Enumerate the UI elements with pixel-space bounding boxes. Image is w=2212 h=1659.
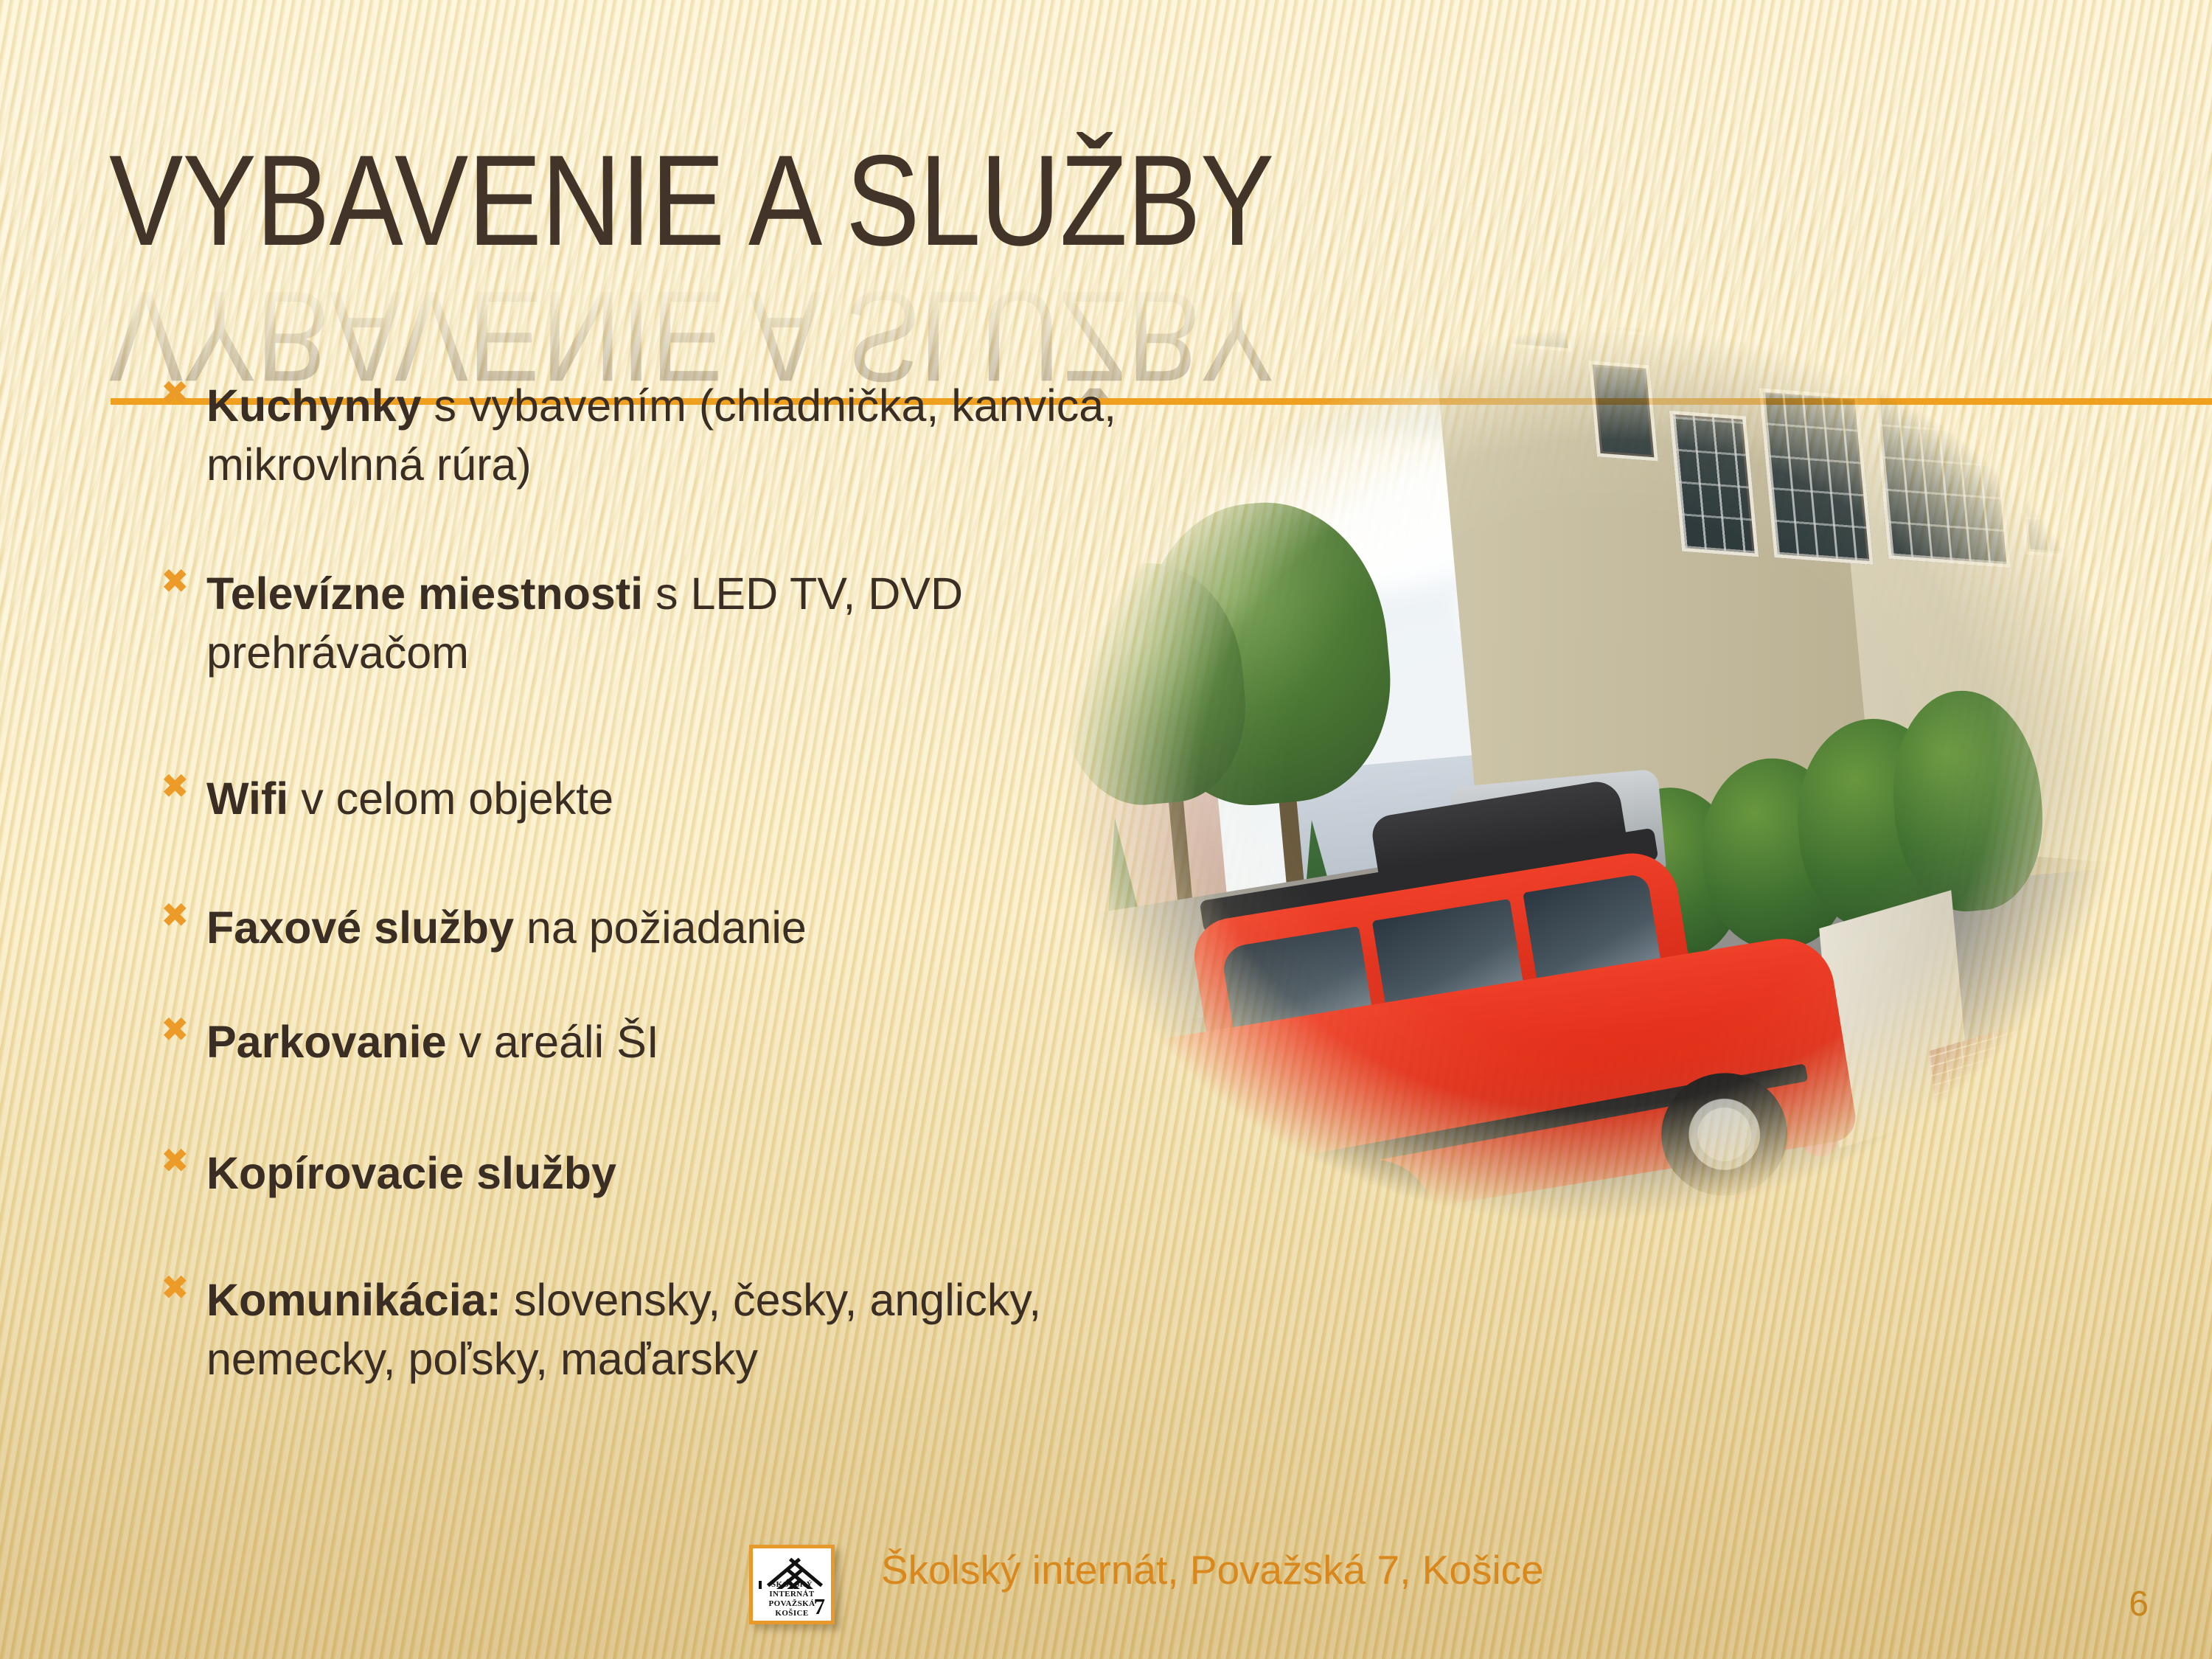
list-item-bold: Komunikácia: [206, 1275, 501, 1325]
taillight [1164, 1117, 1230, 1190]
list-item-bold: Faxové služby [206, 902, 514, 953]
list-item: ✖ Wifi v celom objekte [0, 769, 613, 828]
bullet-x-icon: ✖ [161, 898, 206, 932]
window [1669, 410, 1759, 556]
list-item: ✖ Komunikácia: slovensky, česky, anglick… [0, 1270, 1180, 1388]
list-item-bold: Parkovanie [206, 1017, 447, 1067]
list-item-text: Kopírovacie služby [206, 1144, 616, 1203]
list-item-bold: Wifi [206, 773, 288, 824]
window [1588, 361, 1658, 461]
logo-number: 7 [814, 1595, 826, 1618]
list-item-text: Faxové služby na požiadanie [206, 898, 807, 957]
list-item-text: Wifi v celom objekte [206, 769, 613, 828]
window [1759, 388, 1874, 566]
list-item-text: Komunikácia: slovensky, česky, anglicky,… [206, 1270, 1180, 1388]
window [1870, 352, 2011, 568]
list-item-text: Kuchynky s vybavením (chladnička, kanvic… [206, 376, 1180, 494]
school-logo: ŠKOLSKÝ INTERNÁT POVAŽSKÁ KOŠICE 7 [749, 1545, 835, 1624]
list-item-rest: na požiadanie [514, 902, 807, 953]
list-item-rest: v celom objekte [288, 773, 613, 824]
list-item-text: Televízne miestnosti s LED TV, DVD prehr… [206, 564, 1180, 682]
list-item: ✖ Parkovanie v areáli ŠI [0, 1012, 659, 1071]
bullet-x-icon: ✖ [161, 1270, 206, 1304]
list-item-bold: Kuchynky [206, 380, 422, 431]
list-item: ✖ Faxové služby na požiadanie [0, 898, 807, 957]
bullet-x-icon: ✖ [161, 564, 206, 598]
list-item: ✖ Televízne miestnosti s LED TV, DVD pre… [0, 564, 1180, 682]
page-number: 6 [2129, 1585, 2149, 1624]
list-item-bold: Kopírovacie služby [206, 1148, 616, 1198]
list-item-text: Parkovanie v areáli ŠI [206, 1012, 659, 1071]
page-title: VYBAVENIE A SLUŽBY [109, 139, 1273, 264]
list-item-rest: v areáli ŠI [447, 1017, 659, 1067]
list-item: ✖ Kopírovacie služby [0, 1144, 616, 1203]
presentation-slide: VYBAVENIE A SLUŽBY VYBAVENIE A SLUŽBY [0, 0, 2212, 1659]
bullet-x-icon: ✖ [161, 1012, 206, 1046]
bullet-x-icon: ✖ [161, 376, 206, 410]
window [2002, 296, 2186, 566]
bullet-x-icon: ✖ [161, 769, 206, 803]
list-item: ✖ Kuchynky s vybavením (chladnička, kanv… [0, 376, 1180, 494]
footer-organization: Školský internát, Považská 7, Košice [881, 1547, 1544, 1593]
bullet-x-icon: ✖ [161, 1144, 206, 1178]
list-item-bold: Televízne miestnosti [206, 568, 643, 619]
